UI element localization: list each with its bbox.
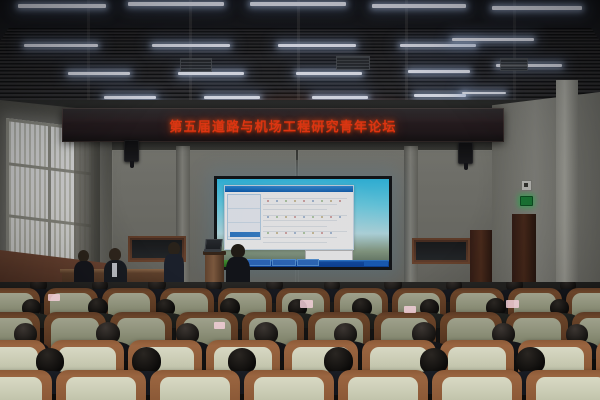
conference-hall-photo: 第五届道路与机场工程研究青年论坛 bbox=[0, 0, 600, 400]
wall-speaker-left bbox=[124, 140, 139, 162]
projected-cell-marker bbox=[294, 200, 296, 202]
projected-cell-marker bbox=[339, 216, 341, 218]
projected-cell-marker bbox=[330, 216, 332, 218]
laptop-keyboard bbox=[204, 249, 222, 252]
projected-cell-marker bbox=[276, 200, 278, 202]
ceiling-lamp bbox=[372, 4, 466, 8]
projected-taskbar-item bbox=[297, 259, 319, 266]
projected-cell-marker bbox=[330, 232, 332, 234]
ceiling-lamp bbox=[152, 44, 230, 47]
banner-title-text: 第五届道路与机场工程研究青年论坛 bbox=[169, 116, 396, 135]
ceiling-lamp bbox=[408, 70, 470, 73]
projected-cell-marker bbox=[285, 200, 287, 202]
projected-sidebar-row bbox=[228, 209, 260, 223]
ceiling-lamp bbox=[452, 38, 534, 41]
projected-cell-marker bbox=[276, 232, 278, 234]
event-banner: 第五届道路与机场工程研究青年论坛 bbox=[62, 108, 504, 142]
seat-cushion bbox=[442, 377, 512, 400]
projected-taskbar-item bbox=[272, 259, 296, 266]
projected-text-line bbox=[263, 204, 337, 205]
projected-cell-marker bbox=[303, 232, 305, 234]
projected-cell-marker bbox=[321, 232, 323, 234]
ceiling-lamp bbox=[492, 6, 582, 10]
ceiling-lamp bbox=[400, 44, 476, 47]
projected-cell-marker bbox=[303, 200, 305, 202]
ceiling-vent bbox=[500, 58, 528, 71]
handout-paper bbox=[404, 306, 416, 313]
ceiling-lamp bbox=[178, 72, 244, 75]
person-head bbox=[231, 244, 245, 258]
projected-cell-marker bbox=[303, 216, 305, 218]
projected-cell-marker bbox=[321, 216, 323, 218]
projected-cell-marker bbox=[330, 200, 332, 202]
ceiling-lamp bbox=[312, 96, 368, 99]
projected-text-line bbox=[263, 220, 337, 221]
exit-sign-icon bbox=[520, 196, 533, 206]
plaque-inner-panel bbox=[416, 242, 466, 260]
right-wall-pilaster bbox=[556, 80, 578, 295]
projected-cell-marker bbox=[312, 216, 314, 218]
ceiling-lamp bbox=[278, 44, 356, 47]
projected-taskbar-item bbox=[247, 259, 271, 266]
wall-pilaster-right bbox=[404, 146, 418, 292]
right-wall bbox=[492, 92, 600, 310]
ceiling-lamp bbox=[250, 2, 346, 6]
ceiling-vent bbox=[180, 58, 212, 72]
seated-audience bbox=[0, 282, 600, 400]
auditorium-seat bbox=[56, 370, 146, 400]
ceiling-lamp bbox=[462, 92, 506, 94]
projected-sidebar bbox=[227, 194, 261, 240]
wall-plaque-right bbox=[412, 238, 470, 264]
projected-text-line bbox=[263, 226, 327, 227]
seat-cushion bbox=[348, 377, 418, 400]
ceiling-lamp bbox=[128, 2, 224, 6]
handout-paper bbox=[214, 322, 225, 329]
projected-cell-marker bbox=[267, 216, 269, 218]
wall-control-panel bbox=[521, 180, 532, 191]
projected-cell-marker bbox=[312, 200, 314, 202]
projected-text-line bbox=[263, 242, 327, 243]
auditorium-seat bbox=[150, 370, 240, 400]
projected-sidebar-row bbox=[228, 195, 260, 209]
projected-cell-marker bbox=[285, 216, 287, 218]
handout-paper bbox=[48, 294, 60, 301]
projected-cell-marker bbox=[294, 232, 296, 234]
projected-cell-marker bbox=[294, 216, 296, 218]
auditorium-seat bbox=[432, 370, 522, 400]
projected-cell-marker bbox=[339, 200, 341, 202]
projected-sidebar-selected bbox=[230, 232, 260, 237]
ceiling-lamp bbox=[24, 44, 98, 47]
projected-window-titlebar bbox=[225, 186, 353, 192]
wall-speaker-right bbox=[458, 142, 473, 164]
seat-cushion bbox=[66, 377, 136, 400]
auditorium-seat bbox=[526, 370, 600, 400]
seat-cushion bbox=[254, 377, 324, 400]
projected-cell-marker bbox=[285, 232, 287, 234]
ceiling-vent bbox=[336, 56, 370, 70]
projected-app-window bbox=[224, 185, 354, 250]
projected-system-tray bbox=[364, 261, 388, 266]
ceiling-lamp bbox=[414, 94, 466, 97]
auditorium-seat bbox=[244, 370, 334, 400]
panelist-shirt bbox=[112, 263, 117, 277]
ceiling-lamp bbox=[104, 96, 156, 99]
seat-cushion bbox=[160, 377, 230, 400]
handout-paper bbox=[506, 300, 519, 308]
projected-text-line bbox=[263, 237, 337, 238]
auditorium-seat bbox=[0, 370, 52, 400]
projected-text-line bbox=[263, 209, 327, 210]
projected-cell-marker bbox=[267, 200, 269, 202]
ceiling-lamp bbox=[296, 72, 362, 75]
handout-paper bbox=[300, 300, 313, 308]
ceiling-lamp bbox=[18, 4, 106, 8]
projected-cell-marker bbox=[276, 216, 278, 218]
ceiling-lamp bbox=[68, 72, 130, 75]
projected-text-line bbox=[263, 198, 347, 199]
projected-cell-marker bbox=[321, 200, 323, 202]
projected-cell-marker bbox=[267, 232, 269, 234]
seat-cushion bbox=[536, 377, 600, 400]
seat-cushion bbox=[0, 377, 42, 400]
projected-cell-marker bbox=[312, 232, 314, 234]
auditorium-seat bbox=[338, 370, 428, 400]
ceiling-lamp bbox=[204, 96, 260, 99]
